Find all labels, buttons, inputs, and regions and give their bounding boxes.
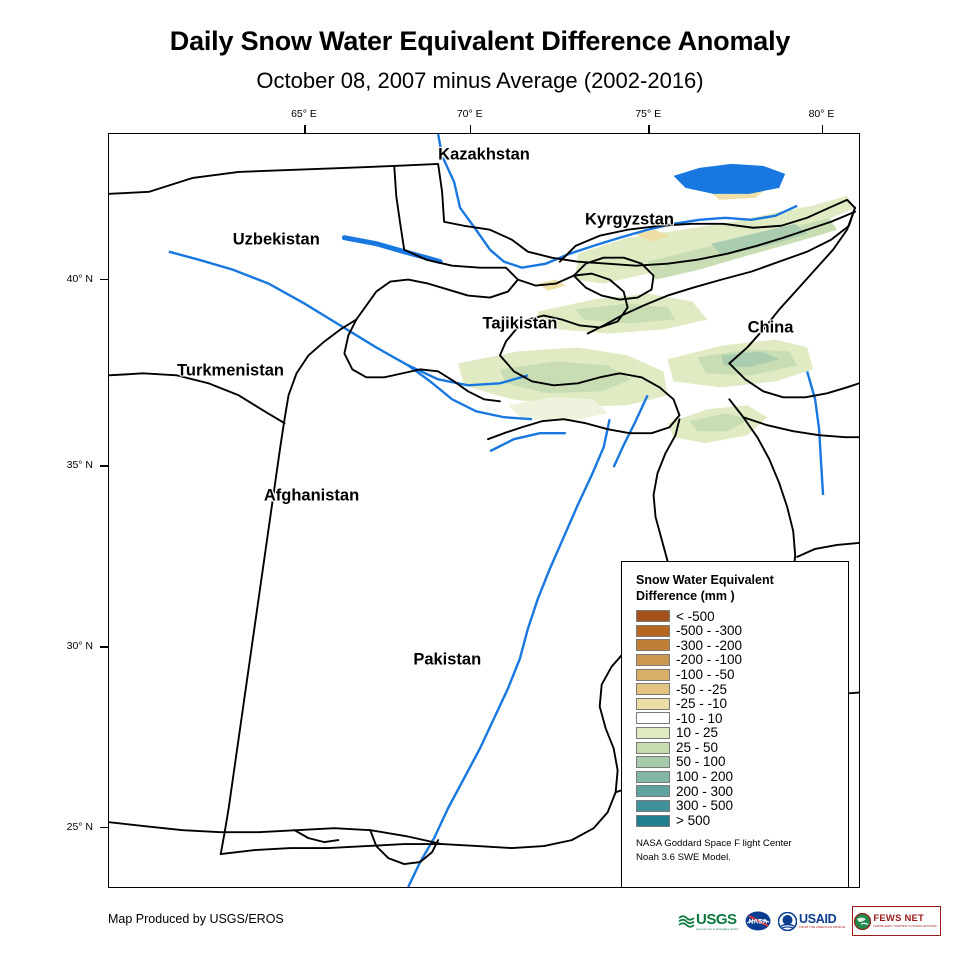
lon-label: 65° E bbox=[291, 108, 317, 120]
legend-credit-line2: Noah 3.6 SWE Model. bbox=[636, 851, 848, 865]
legend-label: 10 - 25 bbox=[676, 726, 718, 740]
legend-label: 100 - 200 bbox=[676, 770, 733, 784]
lon-label: 70° E bbox=[457, 108, 483, 120]
legend-row: 25 - 50 bbox=[636, 740, 848, 755]
legend-swatch bbox=[636, 756, 670, 768]
lat-tick bbox=[100, 465, 109, 467]
legend-label: 50 - 100 bbox=[676, 755, 726, 769]
legend-title-line1: Snow Water Equivalent bbox=[636, 572, 848, 588]
legend-row: < -500 bbox=[636, 609, 848, 624]
legend-row: -25 - -10 bbox=[636, 697, 848, 712]
lat-tick bbox=[100, 646, 109, 648]
lat-label: 30° N bbox=[67, 640, 93, 652]
usaid-seal-icon bbox=[778, 912, 797, 931]
legend-label: -100 - -50 bbox=[676, 668, 735, 682]
legend-panel[interactable]: Snow Water Equivalent Difference (mm ) <… bbox=[621, 561, 849, 888]
legend-row: 50 - 100 bbox=[636, 755, 848, 770]
legend-label: -25 - -10 bbox=[676, 697, 727, 711]
legend-row: -200 - -100 bbox=[636, 653, 848, 668]
usgs-wave-icon bbox=[678, 914, 695, 929]
legend-label: -50 - -25 bbox=[676, 683, 727, 697]
legend-title-line2: Difference (mm ) bbox=[636, 588, 848, 604]
lat-label: 35° N bbox=[67, 459, 93, 471]
legend-label: 200 - 300 bbox=[676, 785, 733, 799]
usgs-tagline: science for a changing world bbox=[696, 927, 738, 931]
lon-label: 80° E bbox=[809, 108, 835, 120]
legend-swatch bbox=[636, 683, 670, 695]
legend-label: -10 - 10 bbox=[676, 712, 723, 726]
legend-swatch bbox=[636, 800, 670, 812]
lake-issyk-kul bbox=[673, 164, 785, 194]
legend-label: 300 - 500 bbox=[676, 799, 733, 813]
legend-row: -500 - -300 bbox=[636, 624, 848, 639]
usgs-wordmark: USGS bbox=[696, 912, 738, 927]
legend-swatch bbox=[636, 654, 670, 666]
legend-row: -300 - -200 bbox=[636, 638, 848, 653]
lat-label: 40° N bbox=[67, 273, 93, 285]
legend-swatch bbox=[636, 625, 670, 637]
lat-label: 25° N bbox=[67, 821, 93, 833]
legend-row: 100 - 200 bbox=[636, 770, 848, 785]
legend-swatch bbox=[636, 669, 670, 681]
page-subtitle: October 08, 2007 minus Average (2002-201… bbox=[0, 68, 960, 94]
svg-text:NASA: NASA bbox=[749, 918, 768, 925]
legend-swatch bbox=[636, 742, 670, 754]
legend-class-list: < -500-500 - -300-300 - -200-200 - -100-… bbox=[636, 609, 848, 828]
legend-credit: NASA Goddard Space F light Center Noah 3… bbox=[636, 837, 848, 865]
legend-swatch bbox=[636, 610, 670, 622]
fews-globe-icon bbox=[854, 913, 871, 930]
map-frame[interactable]: 65° E 70° E 75° E 80° E 40° N 35° N 30° … bbox=[108, 133, 860, 888]
legend-title: Snow Water Equivalent Difference (mm ) bbox=[636, 572, 848, 604]
swe-anomaly-layer bbox=[458, 184, 855, 443]
legend-row: -100 - -50 bbox=[636, 667, 848, 682]
legend-label: > 500 bbox=[676, 814, 710, 828]
legend-swatch bbox=[636, 815, 670, 827]
legend-row: > 500 bbox=[636, 813, 848, 828]
usaid-logo[interactable]: USAID FROM THE AMERICAN PEOPLE bbox=[778, 908, 845, 934]
legend-credit-line1: NASA Goddard Space F light Center bbox=[636, 837, 848, 851]
legend-label: < -500 bbox=[676, 610, 715, 624]
legend-row: 300 - 500 bbox=[636, 799, 848, 814]
usgs-logo[interactable]: USGS science for a changing world bbox=[678, 908, 738, 934]
lon-tick bbox=[470, 125, 472, 134]
lon-tick bbox=[822, 125, 824, 134]
lon-tick bbox=[304, 125, 306, 134]
legend-swatch bbox=[636, 727, 670, 739]
legend-row: 200 - 300 bbox=[636, 784, 848, 799]
legend-swatch bbox=[636, 785, 670, 797]
fews-wordmark: FEWS NET bbox=[873, 914, 937, 924]
page-title: Daily Snow Water Equivalent Difference A… bbox=[0, 26, 960, 57]
nasa-logo[interactable]: NASA bbox=[745, 908, 771, 934]
map-producer-credit: Map Produced by USGS/EROS bbox=[108, 912, 284, 926]
lat-tick bbox=[100, 827, 109, 829]
agency-logo-row: USGS science for a changing world NASA U… bbox=[678, 906, 941, 936]
legend-label: 25 - 50 bbox=[676, 741, 718, 755]
lat-tick bbox=[100, 279, 109, 281]
legend-label: -500 - -300 bbox=[676, 624, 742, 638]
legend-row: 10 - 25 bbox=[636, 726, 848, 741]
fews-tagline: FAMINE EARLY WARNING SYSTEMS NETWORK bbox=[873, 924, 937, 928]
usaid-tagline: FROM THE AMERICAN PEOPLE bbox=[799, 925, 845, 929]
fews-net-logo[interactable]: FEWS NET FAMINE EARLY WARNING SYSTEMS NE… bbox=[852, 906, 941, 936]
legend-swatch bbox=[636, 712, 670, 724]
legend-row: -10 - 10 bbox=[636, 711, 848, 726]
legend-label: -200 - -100 bbox=[676, 653, 742, 667]
lon-label: 75° E bbox=[635, 108, 661, 120]
legend-swatch bbox=[636, 639, 670, 651]
legend-row: -50 - -25 bbox=[636, 682, 848, 697]
usaid-wordmark: USAID bbox=[799, 913, 845, 926]
lon-tick bbox=[648, 125, 650, 134]
nasa-meatball-icon: NASA bbox=[745, 911, 771, 931]
legend-swatch bbox=[636, 698, 670, 710]
legend-label: -300 - -200 bbox=[676, 639, 742, 653]
legend-swatch bbox=[636, 771, 670, 783]
